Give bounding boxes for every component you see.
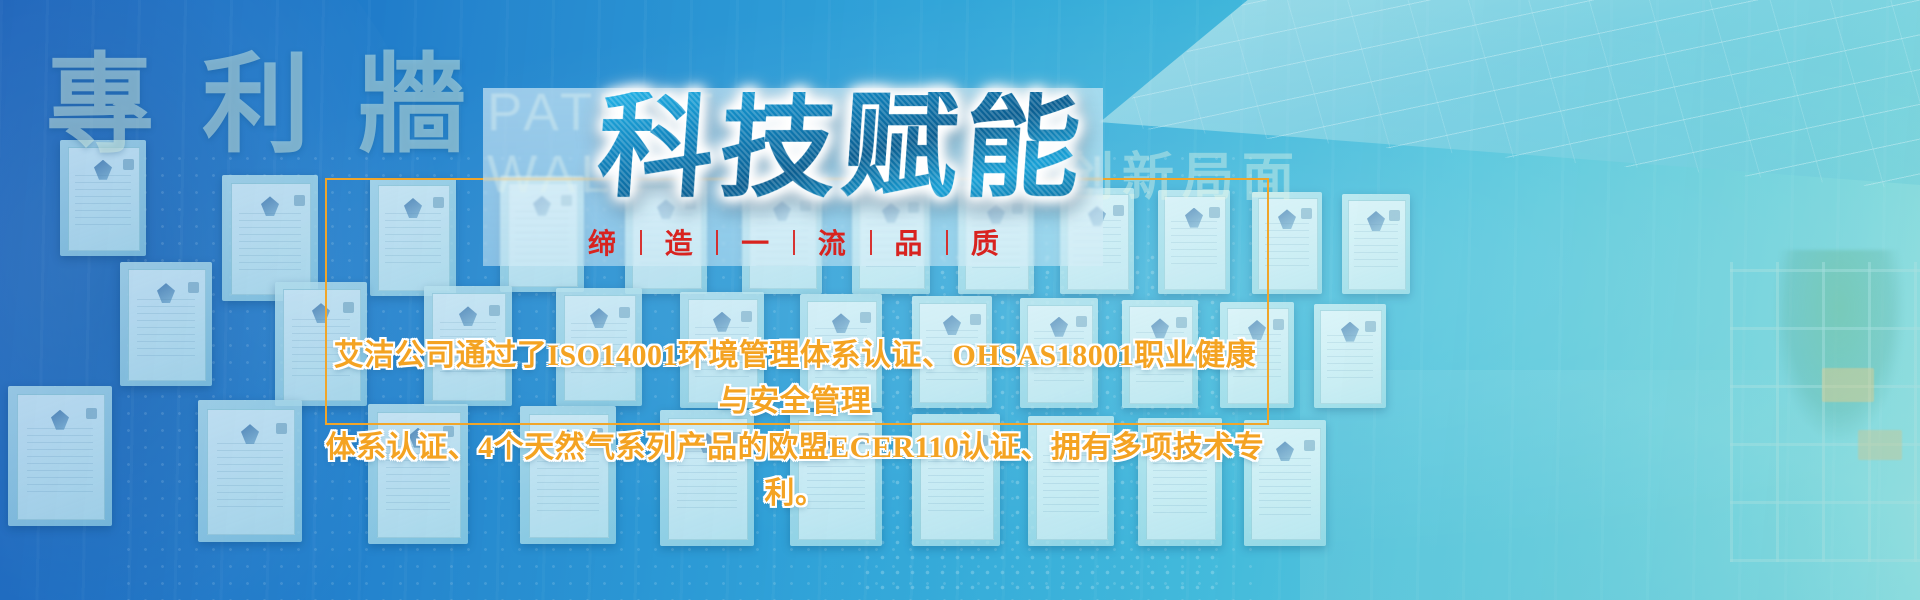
subtitle-char: 一 [741,222,770,262]
patent-wall-banner: 專利牆 PATENT WALL 开创新局面 科技赋能 缔 造 一 流 品 质 艾… [0,0,1920,600]
subtitle-slogan: 缔 造 一 流 品 质 [588,222,1000,262]
description-line-2: 体系认证、4个天然气系列产品的欧盟ECER110认证、拥有多项技术专利。 [325,425,1265,517]
subtitle-char: 造 [665,222,694,262]
background-wall-title-cn: 專利牆 [46,18,514,174]
page-title: 科技赋能 [594,92,1090,204]
subtitle-divider [870,230,872,255]
description-line-1: 艾洁公司通过了ISO14001环境管理体系认证、OHSAS18001职业健康与安… [325,333,1265,425]
subtitle-divider [946,230,948,255]
subtitle-char: 质 [971,222,1000,262]
description-paragraph: 艾洁公司通过了ISO14001环境管理体系认证、OHSAS18001职业健康与安… [325,333,1265,517]
subtitle-char: 流 [818,222,847,262]
subtitle-char: 缔 [588,222,617,262]
subtitle-divider [640,230,642,255]
subtitle-divider [793,230,795,255]
subtitle-char: 品 [894,222,923,262]
subtitle-divider [716,230,718,255]
